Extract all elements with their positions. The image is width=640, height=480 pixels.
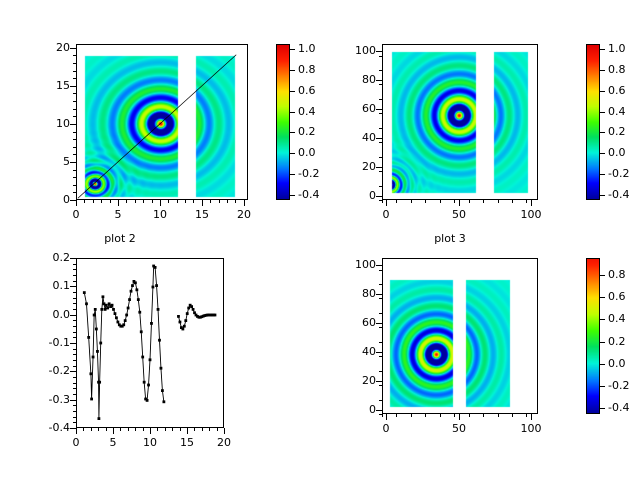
- data-point-marker: [155, 284, 158, 287]
- axis-tick: [379, 284, 382, 285]
- axis-tick: [459, 414, 460, 420]
- axis-tick-label: 10: [139, 209, 181, 220]
- axis-tick-label: 100: [334, 45, 376, 56]
- colorbar-tick: [600, 70, 605, 71]
- colorbar-tick: [290, 112, 295, 113]
- data-point-marker: [125, 314, 128, 317]
- colorbar-tick-label: 0.4: [608, 106, 626, 117]
- colorbar-tick: [600, 342, 605, 343]
- axis-tick: [101, 200, 102, 203]
- data-point-marker: [138, 311, 141, 314]
- axis-tick: [376, 323, 382, 324]
- axis-tick: [379, 270, 382, 271]
- axis-tick: [73, 281, 76, 282]
- data-point-marker: [152, 286, 155, 289]
- axis-tick: [483, 414, 484, 417]
- axis-tick-label: 0: [55, 209, 97, 220]
- data-point-marker: [149, 358, 152, 361]
- data-point-marker: [89, 372, 92, 375]
- axis-tick: [180, 428, 181, 431]
- data-point-marker: [122, 323, 125, 326]
- axis-tick: [135, 428, 136, 431]
- axis-tick: [379, 327, 382, 328]
- line-chart-axes: [76, 258, 224, 428]
- axis-tick: [73, 388, 76, 389]
- data-point-marker: [108, 302, 111, 305]
- data-point-marker: [98, 381, 101, 384]
- axis-tick: [106, 428, 107, 431]
- colorbar-tick: [600, 49, 605, 50]
- axis-tick: [73, 366, 76, 367]
- subplot-bottom-right: plot 3 100806040200050100 0.80.60.40.20.…: [320, 240, 640, 480]
- axis-tick: [165, 428, 166, 431]
- axis-tick: [193, 200, 194, 203]
- axis-tick: [379, 385, 382, 386]
- colorbar-tick-label: -0.2: [608, 380, 629, 391]
- axis-tick: [73, 109, 76, 110]
- axis-tick: [157, 428, 158, 431]
- data-point-marker: [161, 389, 164, 392]
- data-point-marker: [146, 399, 149, 402]
- axis-tick: [168, 200, 169, 203]
- axis-tick: [84, 200, 85, 203]
- data-point-marker: [154, 266, 157, 269]
- axis-tick-label: 100: [510, 209, 552, 220]
- axis-tick: [135, 200, 136, 203]
- axis-tick: [498, 200, 499, 203]
- axis-tick: [73, 349, 76, 350]
- axis-tick: [382, 200, 383, 203]
- axis-tick: [376, 196, 382, 197]
- axis-tick-label: 20: [28, 42, 70, 53]
- axis-tick: [396, 200, 397, 203]
- axis-tick: [73, 170, 76, 171]
- colorbar-tick: [290, 91, 295, 92]
- axis-tick: [425, 200, 426, 203]
- colorbar-tick: [600, 91, 605, 92]
- axis-tick: [209, 428, 210, 431]
- axis-tick: [379, 142, 382, 143]
- data-point-marker: [150, 322, 153, 325]
- axis-tick: [379, 70, 382, 71]
- axis-tick: [379, 371, 382, 372]
- axis-tick: [70, 86, 76, 87]
- axis-tick: [73, 269, 76, 270]
- axis-tick: [93, 200, 94, 203]
- data-point-marker: [160, 367, 163, 370]
- axis-tick: [172, 428, 173, 431]
- diagonal-line-overlay: [77, 45, 247, 199]
- axis-tick-label: -0.1: [28, 337, 70, 348]
- data-point-marker: [147, 384, 150, 387]
- axis-tick: [498, 414, 499, 417]
- axis-tick: [70, 258, 76, 259]
- data-point-marker: [190, 305, 193, 308]
- axis-tick: [76, 428, 77, 434]
- axis-tick-label: 100: [510, 423, 552, 434]
- axis-tick: [73, 337, 76, 338]
- axis-tick-label: 100: [334, 259, 376, 270]
- axis-tick: [454, 414, 455, 417]
- axis-tick-label: 0: [55, 437, 97, 448]
- axis-tick-label: 40: [334, 132, 376, 143]
- axis-tick: [73, 326, 76, 327]
- axis-tick: [244, 200, 245, 206]
- axis-tick: [73, 71, 76, 72]
- axis-tick: [224, 428, 225, 434]
- axis-tick-label: -0.3: [28, 394, 70, 405]
- colorbar-tick: [290, 195, 295, 196]
- axis-tick: [194, 428, 195, 431]
- axis-tick: [526, 414, 527, 417]
- axis-tick: [185, 200, 186, 203]
- axis-tick-label: 60: [334, 317, 376, 328]
- subplot-bottom-right-title: plot 3: [350, 232, 550, 245]
- colorbar-tick: [290, 132, 295, 133]
- colorbar-tick-label: 0.0: [608, 358, 626, 369]
- line-series-path: [84, 266, 164, 419]
- data-point-marker: [140, 330, 143, 333]
- colorbar-tick-label: 0.0: [298, 147, 316, 158]
- heatmap-axes-top-left: [76, 44, 248, 200]
- axis-tick: [70, 48, 76, 49]
- heatmap-axes-top-right: [382, 44, 538, 200]
- axis-tick: [219, 200, 220, 203]
- colorbar-tick-label: -0.2: [608, 168, 629, 179]
- axis-tick: [120, 428, 121, 431]
- data-point-marker: [90, 398, 93, 401]
- axis-tick-label: 0.1: [28, 280, 70, 291]
- axis-tick-label: 0: [334, 190, 376, 201]
- data-point-marker: [98, 417, 101, 420]
- axis-tick: [386, 200, 387, 206]
- data-point-marker: [214, 314, 217, 317]
- colorbar-tick-label: 0.2: [298, 126, 316, 137]
- data-point-marker: [96, 350, 99, 353]
- axis-tick: [73, 147, 76, 148]
- colorbar-tick-label: -0.4: [608, 402, 629, 413]
- colorbar-tick-label: 0.2: [608, 126, 626, 137]
- data-point-marker: [192, 308, 195, 311]
- axis-tick: [379, 84, 382, 85]
- colorbar-tick: [600, 153, 605, 154]
- colorbar-tick: [600, 319, 605, 320]
- data-point-marker: [134, 281, 137, 284]
- data-point-marker: [162, 400, 165, 403]
- axis-tick: [376, 294, 382, 295]
- axis-tick: [143, 428, 144, 431]
- axis-tick: [73, 78, 76, 79]
- axis-tick: [202, 428, 203, 431]
- data-point-marker: [131, 284, 134, 287]
- axis-tick: [73, 309, 76, 310]
- subplot-top-left: 2015105005101520 1.00.80.60.40.20.0-0.2-…: [0, 0, 320, 240]
- axis-tick: [73, 154, 76, 155]
- colorbar-tick-label: 0.8: [298, 64, 316, 75]
- axis-tick-label: 50: [438, 209, 480, 220]
- data-point-marker: [184, 319, 187, 322]
- axis-tick: [73, 377, 76, 378]
- axis-tick: [152, 200, 153, 203]
- axis-tick-label: 15: [28, 80, 70, 91]
- colorbar-tick-label: -0.4: [298, 189, 319, 200]
- axis-tick: [73, 264, 76, 265]
- axis-tick-label: 10: [129, 437, 171, 448]
- data-point-marker: [112, 308, 115, 311]
- axis-tick: [396, 414, 397, 417]
- colorbar-tick: [600, 112, 605, 113]
- axis-tick: [73, 394, 76, 395]
- axis-tick: [411, 414, 412, 417]
- colorbar-tick-label: 0.6: [608, 291, 626, 302]
- axis-tick: [83, 428, 84, 431]
- axis-tick: [210, 200, 211, 203]
- axis-tick: [70, 400, 76, 401]
- colorbar-tick-label: 1.0: [608, 43, 626, 54]
- colorbar-tick: [600, 174, 605, 175]
- data-point-marker: [111, 304, 114, 307]
- axis-tick-label: 15: [166, 437, 208, 448]
- data-point-marker: [181, 328, 184, 331]
- colorbar-tick: [290, 49, 295, 50]
- axis-tick-label: 5: [28, 156, 70, 167]
- axis-tick-label: 15: [181, 209, 223, 220]
- axis-tick-label: 0: [28, 194, 70, 205]
- colorbar-tick: [600, 386, 605, 387]
- axis-tick: [526, 200, 527, 203]
- axis-tick-label: 60: [334, 103, 376, 114]
- axis-tick: [73, 383, 76, 384]
- axis-tick: [73, 354, 76, 355]
- axis-tick: [379, 113, 382, 114]
- axis-tick: [73, 303, 76, 304]
- axis-tick: [73, 116, 76, 117]
- axis-tick: [143, 200, 144, 203]
- data-point-marker: [99, 342, 102, 345]
- axis-tick: [177, 200, 178, 203]
- data-point-marker: [141, 356, 144, 359]
- axis-tick: [73, 320, 76, 321]
- data-point-marker: [83, 291, 86, 294]
- data-point-marker: [92, 356, 95, 359]
- axis-tick: [459, 200, 460, 206]
- axis-tick-label: 5: [92, 437, 134, 448]
- data-point-marker: [130, 290, 133, 293]
- colorbar-tick-label: 0.6: [298, 85, 316, 96]
- axis-tick-label: 0: [365, 209, 407, 220]
- data-point-marker: [102, 295, 105, 298]
- axis-tick: [73, 132, 76, 133]
- data-point-marker: [104, 308, 107, 311]
- axis-tick: [70, 343, 76, 344]
- data-point-marker: [157, 308, 160, 311]
- axis-tick-label: 50: [438, 423, 480, 434]
- axis-tick: [202, 200, 203, 206]
- axis-tick-label: 20: [203, 437, 245, 448]
- data-point-marker: [114, 312, 117, 315]
- figure-canvas: 2015105005101520 1.00.80.60.40.20.0-0.2-…: [0, 0, 640, 480]
- data-point-marker: [93, 314, 96, 317]
- axis-tick: [73, 93, 76, 94]
- axis-tick: [376, 51, 382, 52]
- axis-tick: [73, 411, 76, 412]
- axis-tick: [150, 428, 151, 434]
- colorbar-tick-label: 0.8: [608, 269, 626, 280]
- data-point-marker: [100, 308, 103, 311]
- axis-tick: [376, 138, 382, 139]
- axis-tick-label: 0.2: [28, 252, 70, 263]
- axis-tick: [70, 286, 76, 287]
- subplot-bottom-left: plot 2 0.20.10.0-0.1-0.2-0.3-0.405101520: [0, 240, 320, 480]
- axis-tick: [70, 162, 76, 163]
- data-point-marker: [135, 288, 138, 291]
- data-point-marker: [115, 316, 118, 319]
- colorbar-bottom-right: [586, 258, 600, 414]
- data-point-marker: [124, 319, 127, 322]
- axis-tick: [512, 200, 513, 203]
- axis-tick: [379, 56, 382, 57]
- axis-tick: [376, 381, 382, 382]
- axis-tick: [531, 414, 532, 420]
- axis-tick: [160, 200, 161, 206]
- axis-tick: [73, 139, 76, 140]
- axis-tick: [376, 265, 382, 266]
- colorbar-tick-label: -0.2: [298, 168, 319, 179]
- data-point-marker: [95, 328, 98, 331]
- axis-tick: [379, 313, 382, 314]
- axis-tick: [227, 200, 228, 203]
- axis-tick: [440, 200, 441, 203]
- data-point-marker: [183, 325, 186, 328]
- axis-tick-label: 10: [28, 118, 70, 129]
- axis-tick: [98, 428, 99, 431]
- data-point-marker: [143, 381, 146, 384]
- heatmap-axes-bottom-right: [382, 258, 538, 414]
- axis-tick: [483, 200, 484, 203]
- axis-tick-label: -0.2: [28, 365, 70, 376]
- data-point-marker: [186, 312, 189, 315]
- axis-tick: [73, 417, 76, 418]
- axis-tick: [454, 200, 455, 203]
- axis-tick-label: 5: [97, 209, 139, 220]
- colorbar-tick: [290, 153, 295, 154]
- subplot-bottom-left-title: plot 2: [20, 232, 220, 245]
- axis-tick-label: 20: [223, 209, 265, 220]
- data-point-marker: [87, 336, 90, 339]
- data-point-marker: [179, 321, 182, 324]
- axis-tick: [73, 360, 76, 361]
- axis-tick: [73, 192, 76, 193]
- axis-tick: [469, 200, 470, 203]
- axis-tick-label: 40: [334, 346, 376, 357]
- data-point-marker: [94, 308, 97, 311]
- axis-tick-label: -0.4: [28, 422, 70, 433]
- axis-tick: [376, 109, 382, 110]
- axis-tick: [217, 428, 218, 431]
- axis-tick: [70, 124, 76, 125]
- axis-tick: [73, 405, 76, 406]
- data-point-marker: [137, 298, 140, 301]
- axis-tick: [73, 177, 76, 178]
- axis-tick: [73, 422, 76, 423]
- axis-tick: [379, 356, 382, 357]
- data-point-marker: [177, 315, 180, 318]
- data-point-marker: [128, 298, 131, 301]
- axis-tick: [110, 200, 111, 203]
- data-point-marker: [187, 307, 190, 310]
- data-point-marker: [158, 339, 161, 342]
- colorbar-tick: [600, 297, 605, 298]
- axis-tick: [376, 80, 382, 81]
- colorbar-tick-label: 0.2: [608, 336, 626, 347]
- axis-tick: [376, 352, 382, 353]
- axis-tick: [440, 414, 441, 417]
- axis-tick-label: 80: [334, 74, 376, 85]
- colorbar-top-right: [586, 44, 600, 200]
- colorbar-tick-label: 0.8: [608, 64, 626, 75]
- axis-tick: [376, 410, 382, 411]
- colorbar-tick: [600, 408, 605, 409]
- data-point-marker: [106, 307, 109, 310]
- axis-tick: [70, 315, 76, 316]
- axis-tick-label: 0: [365, 423, 407, 434]
- axis-tick-label: 80: [334, 288, 376, 299]
- axis-tick: [235, 200, 236, 203]
- axis-tick: [76, 200, 77, 206]
- axis-tick-label: 0: [334, 404, 376, 415]
- axis-tick: [73, 332, 76, 333]
- axis-tick: [187, 428, 188, 434]
- axis-tick: [70, 371, 76, 372]
- axis-tick: [376, 167, 382, 168]
- axis-tick: [118, 200, 119, 206]
- colorbar-tick: [600, 364, 605, 365]
- axis-tick: [379, 342, 382, 343]
- axis-tick: [91, 428, 92, 431]
- data-point-marker: [127, 307, 130, 310]
- axis-tick: [531, 200, 532, 206]
- line-series-plot: [77, 259, 223, 427]
- axis-tick: [73, 275, 76, 276]
- axis-tick: [382, 414, 383, 417]
- axis-tick: [379, 298, 382, 299]
- colorbar-tick-label: 1.0: [298, 43, 316, 54]
- colorbar-tick-label: -0.4: [608, 189, 629, 200]
- axis-tick-label: 0.0: [28, 309, 70, 320]
- axis-tick: [73, 292, 76, 293]
- colorbar-top-left: [276, 44, 290, 200]
- axis-tick: [411, 200, 412, 203]
- colorbar-tick: [290, 70, 295, 71]
- axis-tick: [73, 298, 76, 299]
- axis-tick: [469, 414, 470, 417]
- colorbar-tick-label: 0.0: [608, 147, 626, 158]
- colorbar-tick: [600, 275, 605, 276]
- axis-tick: [379, 128, 382, 129]
- axis-tick: [73, 101, 76, 102]
- axis-tick: [386, 414, 387, 420]
- colorbar-tick-label: 0.6: [608, 85, 626, 96]
- axis-tick: [73, 63, 76, 64]
- axis-tick: [512, 414, 513, 417]
- axis-tick: [379, 400, 382, 401]
- axis-tick: [379, 186, 382, 187]
- axis-tick: [128, 428, 129, 431]
- axis-tick: [73, 55, 76, 56]
- colorbar-tick: [600, 195, 605, 196]
- axis-tick: [379, 157, 382, 158]
- axis-tick: [379, 99, 382, 100]
